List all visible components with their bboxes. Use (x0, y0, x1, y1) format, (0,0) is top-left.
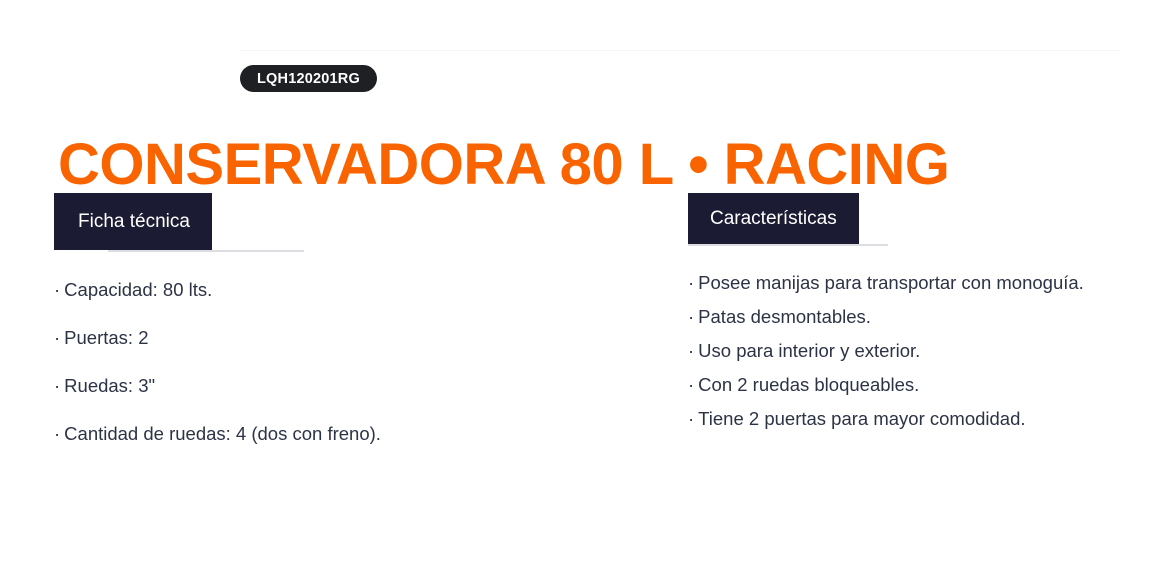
features-column: Características ·Posee manijas para tran… (688, 193, 1128, 430)
bullet-icon: · (688, 272, 694, 294)
list-item: ·Uso para interior y exterior. (688, 340, 1128, 362)
specs-heading-rule (108, 250, 304, 252)
features-list: ·Posee manijas para transportar con mono… (688, 272, 1128, 430)
top-divider (240, 50, 1120, 51)
bullet-icon: · (54, 375, 60, 397)
list-item: ·Con 2 ruedas bloqueables. (688, 374, 1128, 396)
list-item: ·Puertas: 2 (54, 327, 514, 349)
bullet-icon: · (688, 408, 694, 430)
list-item: ·Cantidad de ruedas: 4 (dos con freno). (54, 423, 514, 445)
bullet-icon: · (688, 306, 694, 328)
bullet-icon: · (54, 327, 60, 349)
specs-list: ·Capacidad: 80 lts. ·Puertas: 2 ·Ruedas:… (54, 279, 514, 445)
bullet-icon: · (688, 340, 694, 362)
sku-badge: LQH120201RG (240, 65, 377, 92)
features-heading-rule (688, 244, 888, 246)
list-item-label: Uso para interior y exterior. (698, 340, 920, 361)
list-item-label: Posee manijas para transportar con monog… (698, 272, 1084, 293)
bullet-icon: · (54, 423, 60, 445)
list-item: ·Ruedas: 3" (54, 375, 514, 397)
list-item-label: Tiene 2 puertas para mayor comodidad. (698, 408, 1025, 429)
list-item-label: Patas desmontables. (698, 306, 871, 327)
list-item-label: Con 2 ruedas bloqueables. (698, 374, 919, 395)
list-item: ·Tiene 2 puertas para mayor comodidad. (688, 408, 1128, 430)
list-item-label: Cantidad de ruedas: 4 (dos con freno). (64, 423, 381, 444)
specs-heading: Ficha técnica (54, 193, 212, 250)
bullet-icon: · (688, 374, 694, 396)
product-spec-page: LQH120201RG CONSERVADORA 80 L • RACING F… (0, 0, 1162, 588)
list-item: ·Patas desmontables. (688, 306, 1128, 328)
list-item: ·Capacidad: 80 lts. (54, 279, 514, 301)
page-title: CONSERVADORA 80 L • RACING (58, 129, 949, 201)
bullet-icon: · (54, 279, 60, 301)
list-item-label: Capacidad: 80 lts. (64, 279, 212, 300)
specs-column: Ficha técnica ·Capacidad: 80 lts. ·Puert… (54, 193, 514, 445)
list-item-label: Ruedas: 3" (64, 375, 155, 396)
list-item-label: Puertas: 2 (64, 327, 148, 348)
features-heading: Características (688, 193, 859, 244)
list-item: ·Posee manijas para transportar con mono… (688, 272, 1128, 294)
